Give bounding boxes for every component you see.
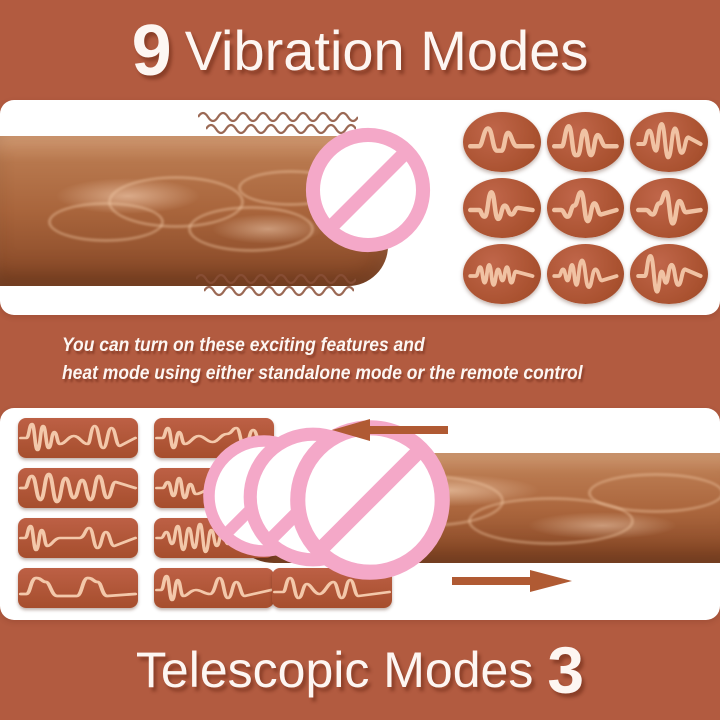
vibration-mode-grid	[463, 112, 708, 304]
vibration-mode-circle[interactable]	[630, 244, 708, 304]
waveform-path	[554, 126, 616, 155]
vibration-panel	[0, 100, 720, 315]
telescopic-mode-card[interactable]	[154, 568, 274, 608]
waveform-path	[471, 129, 533, 151]
footer-title: Telescopic Modes	[136, 645, 533, 695]
vibration-mode-circle[interactable]	[547, 178, 625, 238]
vibration-mode-circle[interactable]	[630, 178, 708, 238]
telescopic-mode-card[interactable]	[18, 468, 138, 508]
waveform-path	[21, 424, 135, 450]
vibration-wave-bottom-2	[204, 282, 354, 300]
poster-canvas: 9 Vibration Modes	[0, 0, 720, 720]
waveform-path	[21, 474, 135, 502]
vibration-mode-circle[interactable]	[630, 112, 708, 172]
footer: Telescopic Modes 3	[0, 630, 720, 710]
waveform-path	[554, 261, 616, 288]
header: 9 Vibration Modes	[0, 8, 720, 94]
waveform-path	[638, 192, 700, 223]
footer-count: 3	[547, 637, 584, 703]
waveform-path	[21, 578, 135, 596]
feature-caption: You can turn on these exciting features …	[62, 332, 632, 387]
telescopic-mode-card[interactable]	[18, 518, 138, 558]
retract-arrow-left	[330, 418, 448, 442]
censor-badge-top	[304, 126, 432, 254]
telescopic-panel	[0, 408, 720, 620]
telescopic-mode-card[interactable]	[18, 418, 138, 458]
vibration-mode-circle[interactable]	[463, 178, 541, 238]
waveform-path	[157, 576, 271, 600]
extend-arrow-right	[452, 568, 574, 594]
vibration-mode-circle[interactable]	[463, 112, 541, 172]
page-title: Vibration Modes	[185, 23, 589, 79]
waveform-path	[21, 526, 135, 550]
telescopic-mode-card[interactable]	[18, 568, 138, 608]
waveform-path	[471, 192, 533, 219]
waveform-path	[638, 256, 700, 292]
waveform-path	[554, 192, 616, 221]
header-count: 9	[132, 15, 171, 87]
waveform-path	[471, 265, 533, 285]
waveform-path	[638, 124, 700, 157]
vibration-mode-circle[interactable]	[547, 112, 625, 172]
vibration-mode-circle[interactable]	[463, 244, 541, 304]
vibration-mode-circle[interactable]	[547, 244, 625, 304]
